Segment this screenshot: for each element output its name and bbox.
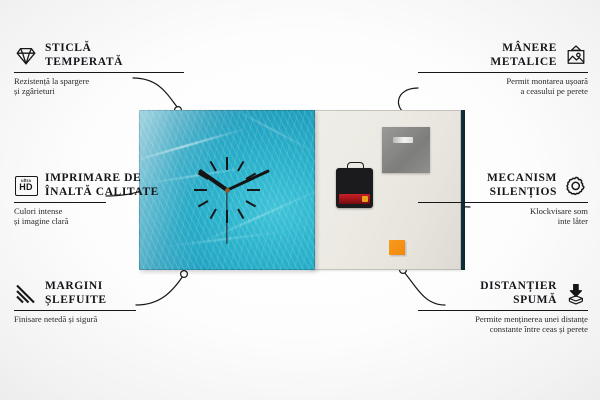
hd-label: HD	[19, 183, 33, 192]
feature-header: ultra HD IMPRIMARE DE ÎNALTĂ CALITATE	[14, 172, 184, 199]
diagonal-lines-icon	[14, 282, 38, 306]
feature-high-quality-print[interactable]: ultra HD IMPRIMARE DE ÎNALTĂ CALITATE Cu…	[14, 172, 184, 227]
title-line-1: MECANISM	[487, 172, 557, 184]
feature-title: DISTANȚIER SPUMĂ	[480, 280, 557, 307]
feature-description: Culori intense și imagine clară	[14, 206, 184, 227]
feature-title: MÂNERE METALICE	[490, 42, 557, 69]
title-line-1: MÂNERE	[502, 42, 557, 54]
feature-title: IMPRIMARE DE ÎNALTĂ CALITATE	[45, 172, 159, 199]
title-line-2: TEMPERATĂ	[45, 56, 123, 68]
feature-description: Finisare netedă și sigură	[14, 314, 184, 324]
down-arrow-stack-icon	[564, 282, 588, 306]
title-line-1: MARGINI	[45, 280, 103, 292]
feature-title: MECANISM SILENȚIOS	[487, 172, 557, 199]
hand-center-cap	[225, 188, 230, 193]
metal-hanger	[382, 127, 430, 173]
feature-description: Rezistență la spargere și zgârieturi	[14, 76, 184, 97]
feature-polished-edges[interactable]: MARGINI ȘLEFUITE Finisare netedă și sigu…	[14, 280, 184, 324]
title-line-2: ȘLEFUITE	[45, 294, 107, 306]
foam-spacer-pad	[389, 240, 405, 255]
feature-foam-spacer[interactable]: DISTANȚIER SPUMĂ Permit	[418, 280, 588, 335]
title-line-2: SILENȚIOS	[490, 186, 557, 198]
connector-dot-edges	[181, 271, 188, 278]
title-line-2: METALICE	[490, 56, 557, 68]
divider	[418, 202, 588, 203]
divider	[14, 72, 184, 73]
clock-mechanism	[336, 168, 373, 208]
divider	[418, 310, 588, 311]
title-line-2: ÎNALTĂ CALITATE	[45, 186, 159, 198]
desc-line-1: Klockvisare som	[530, 206, 588, 216]
desc-line-2: și zgârieturi	[14, 86, 55, 96]
feature-metal-hooks[interactable]: MÂNERE METALICE Permit montarea ușoară a…	[418, 42, 588, 97]
divider	[14, 202, 106, 203]
desc-line-2: a ceasului pe perete	[520, 86, 588, 96]
feature-header: MÂNERE METALICE	[418, 42, 588, 69]
feature-header: DISTANȚIER SPUMĂ	[418, 280, 588, 307]
ultra-hd-icon: ultra HD	[14, 174, 38, 198]
feature-tempered-glass[interactable]: STICLĂ TEMPERATĂ Rezistență la spargere …	[14, 42, 184, 97]
feature-description: Klockvisare som inte låter	[418, 206, 588, 227]
feature-description: Permite menținerea unei distanțe constan…	[418, 314, 588, 335]
desc-line-1: Rezistență la spargere	[14, 76, 89, 86]
title-line-1: STICLĂ	[45, 42, 91, 54]
desc-line-2: și imagine clară	[14, 216, 68, 226]
feature-description: Permit montarea ușoară a ceasului pe per…	[418, 76, 588, 97]
diamond-icon	[14, 44, 38, 68]
feature-title: MARGINI ȘLEFUITE	[45, 280, 107, 307]
product-photo	[139, 110, 461, 270]
desc-line-1: Finisare netedă și sigură	[14, 314, 97, 324]
desc-line-2: inte låter	[558, 216, 588, 226]
battery	[339, 194, 370, 204]
title-line-1: DISTANȚIER	[480, 280, 557, 292]
feature-header: MARGINI ȘLEFUITE	[14, 280, 184, 307]
desc-line-1: Permit montarea ușoară	[506, 76, 588, 86]
title-line-1: IMPRIMARE DE	[45, 172, 141, 184]
hanging-picture-frame-icon	[564, 44, 588, 68]
feature-silent-mechanism[interactable]: MECANISM SILENȚIOS Klockvisare som inte …	[418, 172, 588, 227]
divider	[14, 310, 136, 311]
divider	[418, 72, 588, 73]
feature-title: STICLĂ TEMPERATĂ	[45, 42, 123, 69]
feature-header: STICLĂ TEMPERATĂ	[14, 42, 184, 69]
desc-line-1: Permite menținerea unei distanțe	[475, 314, 588, 324]
feature-header: MECANISM SILENȚIOS	[418, 172, 588, 199]
title-line-2: SPUMĂ	[513, 294, 557, 306]
gear-icon	[564, 174, 588, 198]
desc-line-2: constante între ceas și perete	[490, 324, 588, 334]
desc-line-1: Culori intense	[14, 206, 62, 216]
product-feature-infographic: STICLĂ TEMPERATĂ Rezistență la spargere …	[0, 0, 600, 400]
